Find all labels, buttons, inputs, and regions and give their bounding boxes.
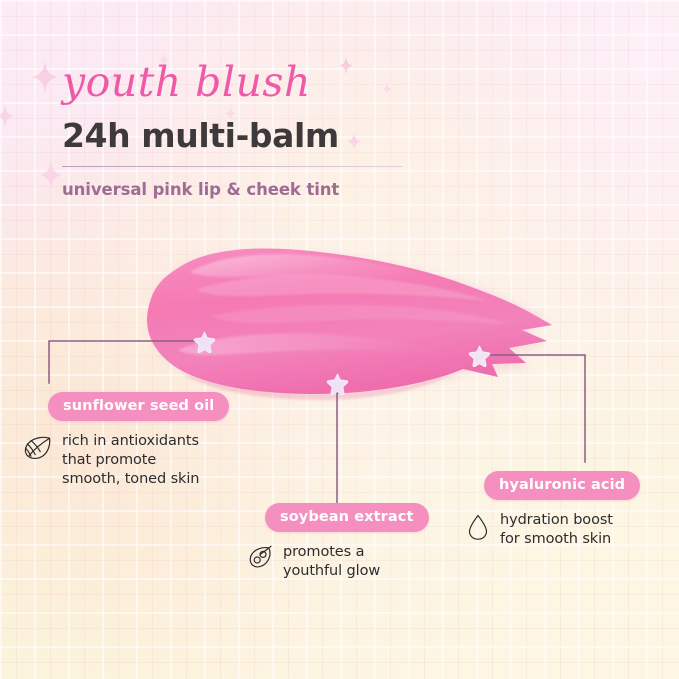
callout-soybean-extract: soybean extract promotes a youthful glow [265,503,429,581]
marker-hyaluronic-acid[interactable] [468,344,491,372]
callout-hyaluronic-acid: hyaluronic acid hydration boost for smoo… [484,471,640,549]
ingredient-label-soybean-extract[interactable]: soybean extract [265,503,429,532]
soybean-pod-icon [247,545,273,576]
ingredient-description-sunflower-seed-oil: rich in antioxidants that promote smooth… [62,432,199,489]
callout-sunflower-seed-oil: sunflower seed oil rich in antioxidants … [48,392,229,489]
ingredient-label-sunflower-seed-oil[interactable]: sunflower seed oil [48,392,229,421]
sunflower-seed-icon [22,434,52,467]
infographic-canvas: youth blush 24h multi-balm universal pin… [0,0,679,679]
ingredient-label-hyaluronic-acid[interactable]: hyaluronic acid [484,471,640,500]
ingredient-description-soybean-extract: promotes a youthful glow [283,543,380,581]
ingredient-description-hyaluronic-acid: hydration boost for smooth skin [500,511,613,549]
marker-soybean-extract[interactable] [326,372,349,400]
marker-sunflower-seed-oil[interactable] [193,330,216,358]
water-drop-icon [466,513,490,546]
